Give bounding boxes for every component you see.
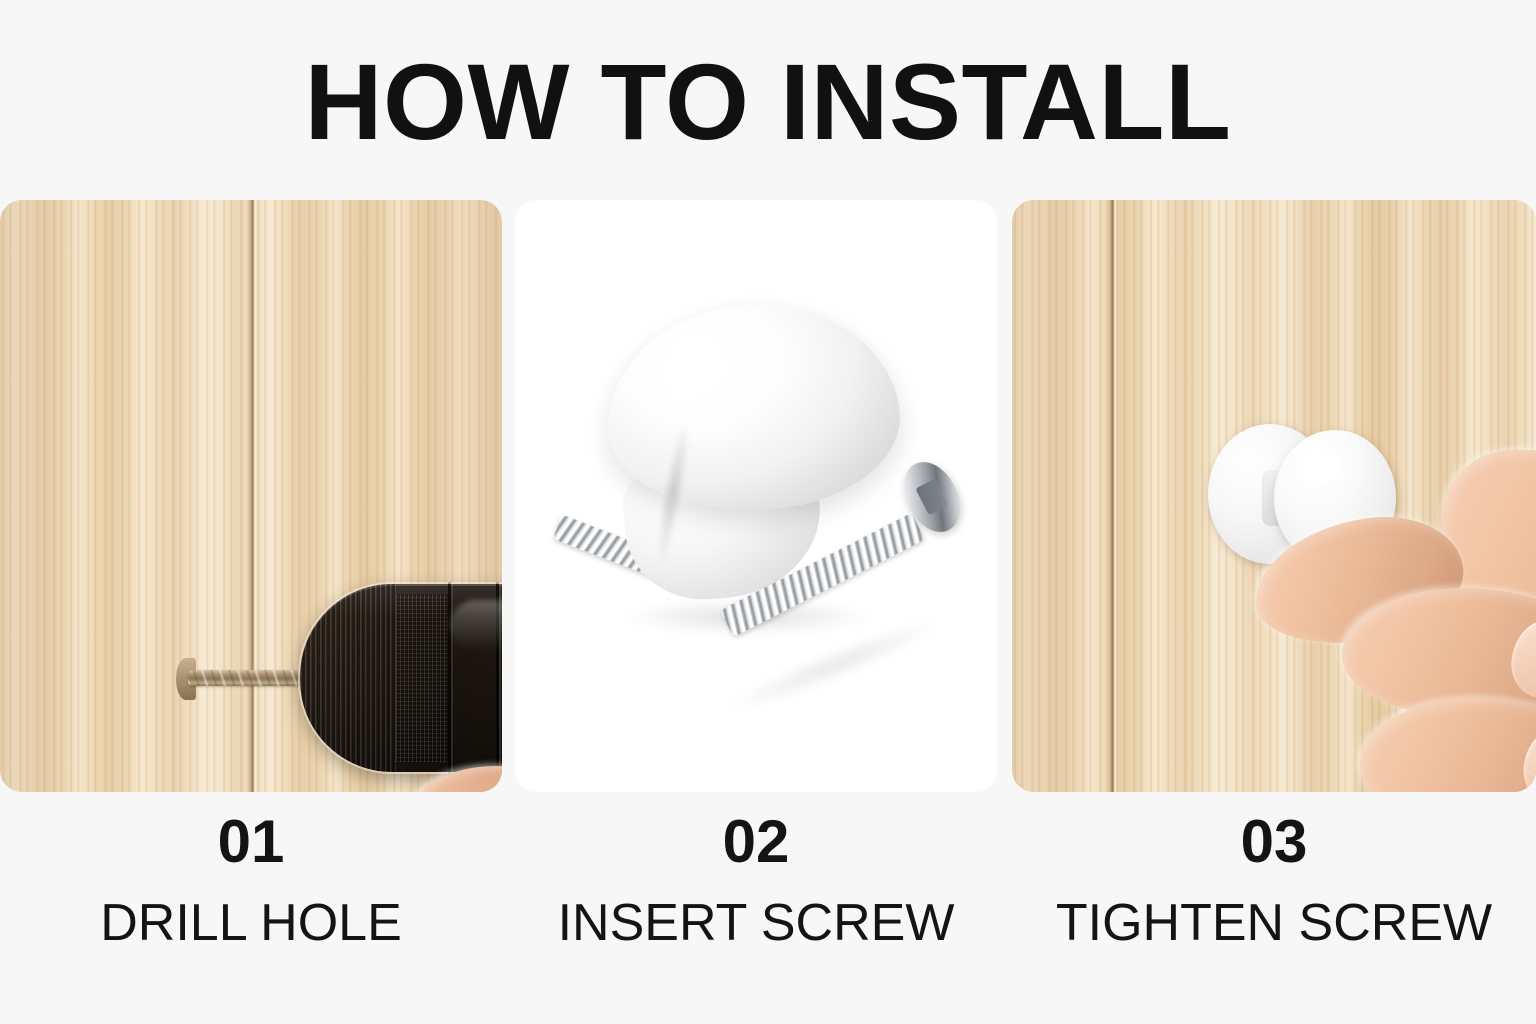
step-3-label: TIGHTEN SCREW (1012, 895, 1536, 952)
step-1-caption: 01 DRILL HOLE (0, 810, 502, 952)
drill-ring-1 (448, 582, 451, 776)
step-1-image (0, 200, 502, 792)
step-3-caption: 03 TIGHTEN SCREW (1012, 810, 1536, 952)
drill-highlight (450, 600, 502, 652)
installed-knob-highlight (1298, 450, 1342, 484)
step-2-label: INSERT SCREW (515, 895, 997, 952)
step-2-caption: 02 INSERT SCREW (515, 810, 997, 952)
step-1-number: 01 (0, 810, 502, 873)
step-3-image (1012, 200, 1536, 792)
wood-board-seam (248, 200, 257, 792)
steps-image-row (0, 200, 1536, 792)
steps-caption-row: 01 DRILL HOLE 02 INSERT SCREW 03 TIGHTEN… (0, 810, 1536, 990)
power-drill-body (300, 584, 502, 772)
step-3-number: 03 (1012, 810, 1536, 873)
drill-knurled-grip (396, 594, 448, 762)
wood-board-seam (1108, 200, 1117, 792)
step-2-number: 02 (515, 810, 997, 873)
step-1-label: DRILL HOLE (0, 895, 502, 952)
wood-shading-left (0, 200, 90, 792)
step-2-image (515, 200, 997, 792)
screw-head-slot (915, 479, 948, 516)
page-title: HOW TO INSTALL (0, 48, 1536, 156)
wood-shading-left (1012, 200, 1102, 792)
